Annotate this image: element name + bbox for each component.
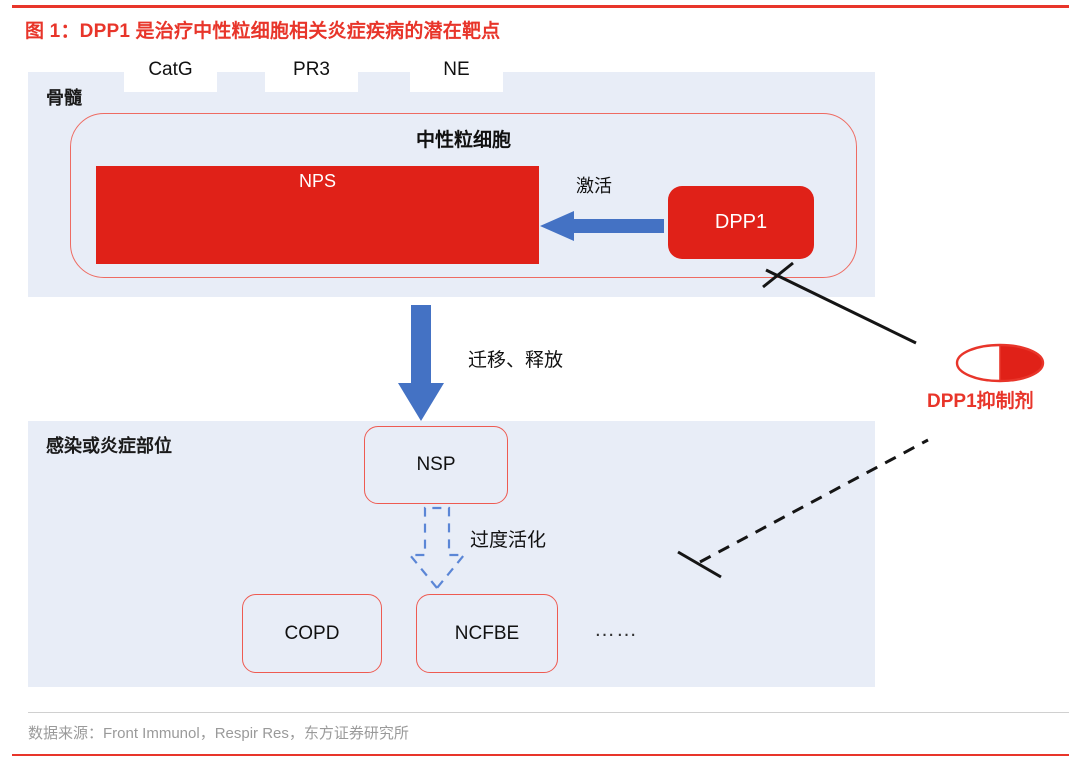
nps-label: NPS	[96, 171, 539, 192]
disease-box-copd: COPD	[242, 594, 382, 673]
footer-divider	[28, 712, 1069, 713]
nsp-box: NSP	[364, 426, 508, 504]
source-note: 数据来源：Front Immunol，Respir Res，东方证券研究所	[28, 722, 409, 743]
inhibitor-label: DPP1抑制剂	[927, 386, 1034, 413]
protease-box-catg: CatG	[124, 47, 217, 92]
overactivation-label: 过度活化	[470, 525, 546, 552]
more-diseases-ellipsis: ……	[594, 618, 638, 642]
protease-box-pr3: PR3	[265, 47, 358, 92]
arrow-left-icon	[540, 211, 664, 241]
inflammation-site-label: 感染或炎症部位	[46, 432, 172, 458]
top-divider	[12, 5, 1069, 8]
arrow-down-icon	[398, 305, 444, 421]
bottom-divider	[12, 754, 1069, 756]
protease-box-ne: NE	[410, 47, 503, 92]
capsule-icon	[955, 343, 1045, 383]
disease-box-ncfbe: NCFBE	[416, 594, 558, 673]
dpp1-block: DPP1	[668, 186, 814, 259]
neutrophil-label: 中性粒细胞	[71, 125, 856, 152]
activation-label: 激活	[576, 172, 612, 198]
bone-marrow-label: 骨髓	[46, 84, 82, 110]
nps-block: NPS	[96, 166, 539, 264]
figure-title: 图 1：DPP1 是治疗中性粒细胞相关炎症疾病的潜在靶点	[25, 16, 500, 43]
dashed-arrow-down-icon	[404, 505, 470, 590]
migration-label: 迁移、释放	[468, 345, 563, 372]
